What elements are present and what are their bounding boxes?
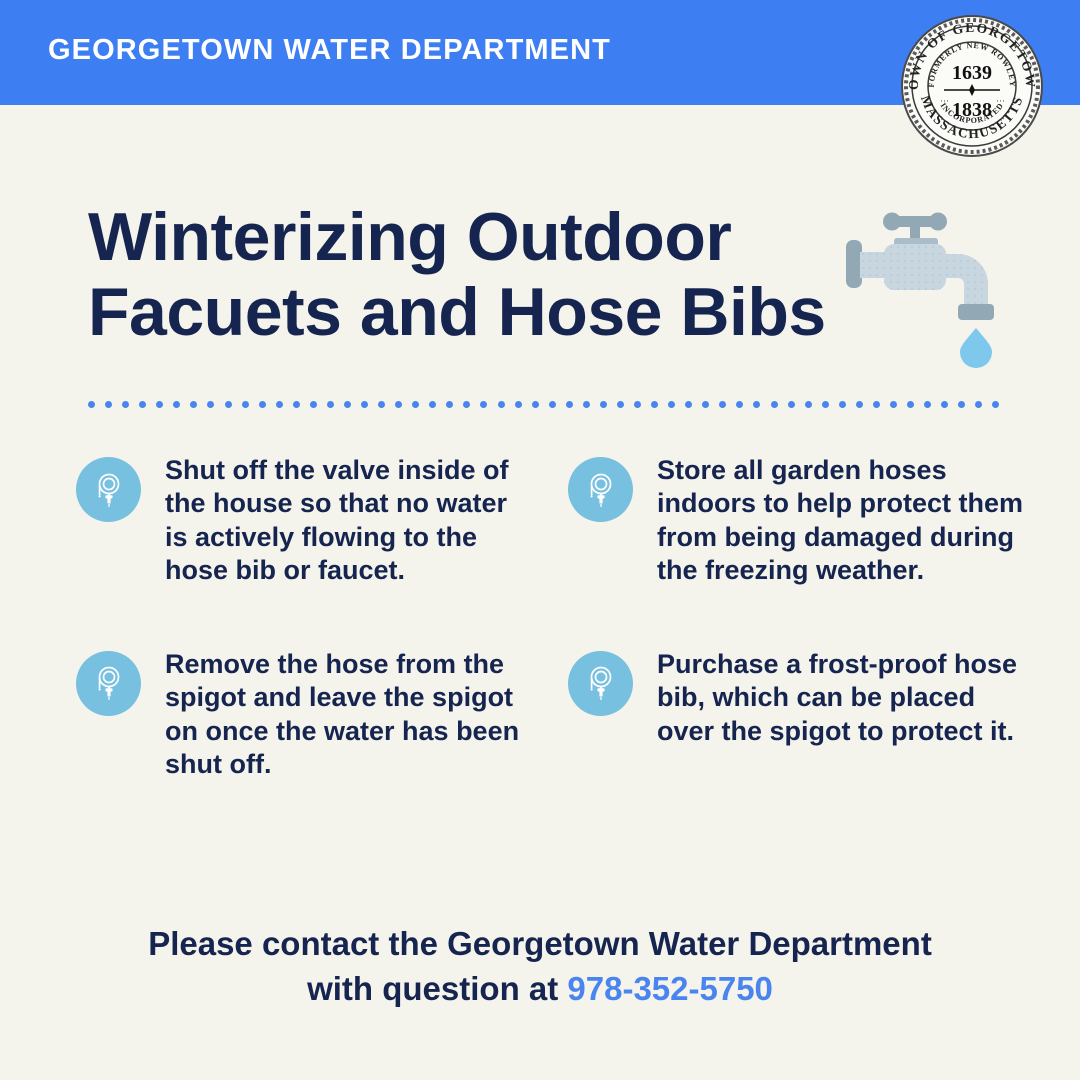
divider-dot [446,401,453,408]
tips-grid: Shut off the valve inside of the house s… [76,452,1028,782]
dotted-divider [88,400,1000,408]
divider-dot [310,401,317,408]
header-title: GEORGETOWN WATER DEPARTMENT [48,36,611,65]
divider-dot [207,401,214,408]
divider-dot [498,401,505,408]
divider-dot [139,401,146,408]
svg-text:1838: 1838 [952,99,992,121]
divider-dot [702,401,709,408]
garden-hose-icon [76,457,141,522]
tip-text: Remove the hose from the spigot and leav… [165,646,536,782]
divider-dot [480,401,487,408]
divider-dot [463,401,470,408]
divider-dot [156,401,163,408]
divider-dot [583,401,590,408]
tip-item: Remove the hose from the spigot and leav… [76,646,536,782]
divider-dot [344,401,351,408]
divider-dot [651,401,658,408]
divider-dot [685,401,692,408]
divider-dot [88,401,95,408]
phone-number[interactable]: 978-352-5750 [567,970,773,1007]
divider-dot [617,401,624,408]
page-title-line1: Winterizing Outdoor [88,199,731,275]
divider-dot [856,401,863,408]
divider-dot [839,401,846,408]
divider-dot [771,401,778,408]
divider-dot [788,401,795,408]
divider-dot [907,401,914,408]
divider-dot [668,401,675,408]
tip-item: Purchase a frost-proof hose bib, which c… [568,646,1028,782]
divider-dot [515,401,522,408]
divider-dot [549,401,556,408]
divider-dot [259,401,266,408]
divider-dot [190,401,197,408]
divider-dot [532,401,539,408]
divider-dot [600,401,607,408]
footer-line2-prefix: with question at [307,970,567,1007]
divider-dot [122,401,129,408]
divider-dot [958,401,965,408]
divider-dot [105,401,112,408]
footer-line2: with question at 978-352-5750 [70,967,1010,1012]
page-title: Winterizing Outdoor Facuets and Hose Bib… [88,200,848,350]
divider-dot [873,401,880,408]
divider-dot [634,401,641,408]
divider-dot [924,401,931,408]
divider-dot [736,401,743,408]
tip-item: Shut off the valve inside of the house s… [76,452,536,588]
divider-dot [890,401,897,408]
divider-dot [395,401,402,408]
divider-dot [753,401,760,408]
town-seal-logo: TOWN OF GEORGETOWN MASSACHUSETTS FORMERL… [898,12,1046,160]
divider-dot [429,401,436,408]
divider-dot [293,401,300,408]
tip-text: Store all garden hoses indoors to help p… [657,452,1028,588]
title-block: Winterizing Outdoor Facuets and Hose Bib… [88,200,848,350]
faucet-illustration [840,196,1030,371]
garden-hose-icon [568,457,633,522]
divider-dot [566,401,573,408]
tip-item: Store all garden hoses indoors to help p… [568,452,1028,588]
divider-dot [378,401,385,408]
divider-dot [412,401,419,408]
footer-line1: Please contact the Georgetown Water Depa… [70,922,1010,967]
tip-text: Purchase a frost-proof hose bib, which c… [657,646,1028,748]
divider-dot [805,401,812,408]
svg-text:···: ··· [996,96,1005,106]
divider-dot [242,401,249,408]
divider-dot [975,401,982,408]
svg-text:1639: 1639 [952,62,992,84]
divider-dot [941,401,948,408]
divider-dot [327,401,334,408]
divider-dot [361,401,368,408]
tip-text: Shut off the valve inside of the house s… [165,452,536,588]
page-title-line2: Facuets and Hose Bibs [88,274,826,350]
garden-hose-icon [568,651,633,716]
divider-dot [173,401,180,408]
footer-contact: Please contact the Georgetown Water Depa… [0,922,1080,1011]
divider-dot [719,401,726,408]
divider-dot [276,401,283,408]
garden-hose-icon [76,651,141,716]
divider-dot [822,401,829,408]
svg-text:···: ··· [940,96,949,106]
divider-dot [992,401,999,408]
divider-dot [225,401,232,408]
